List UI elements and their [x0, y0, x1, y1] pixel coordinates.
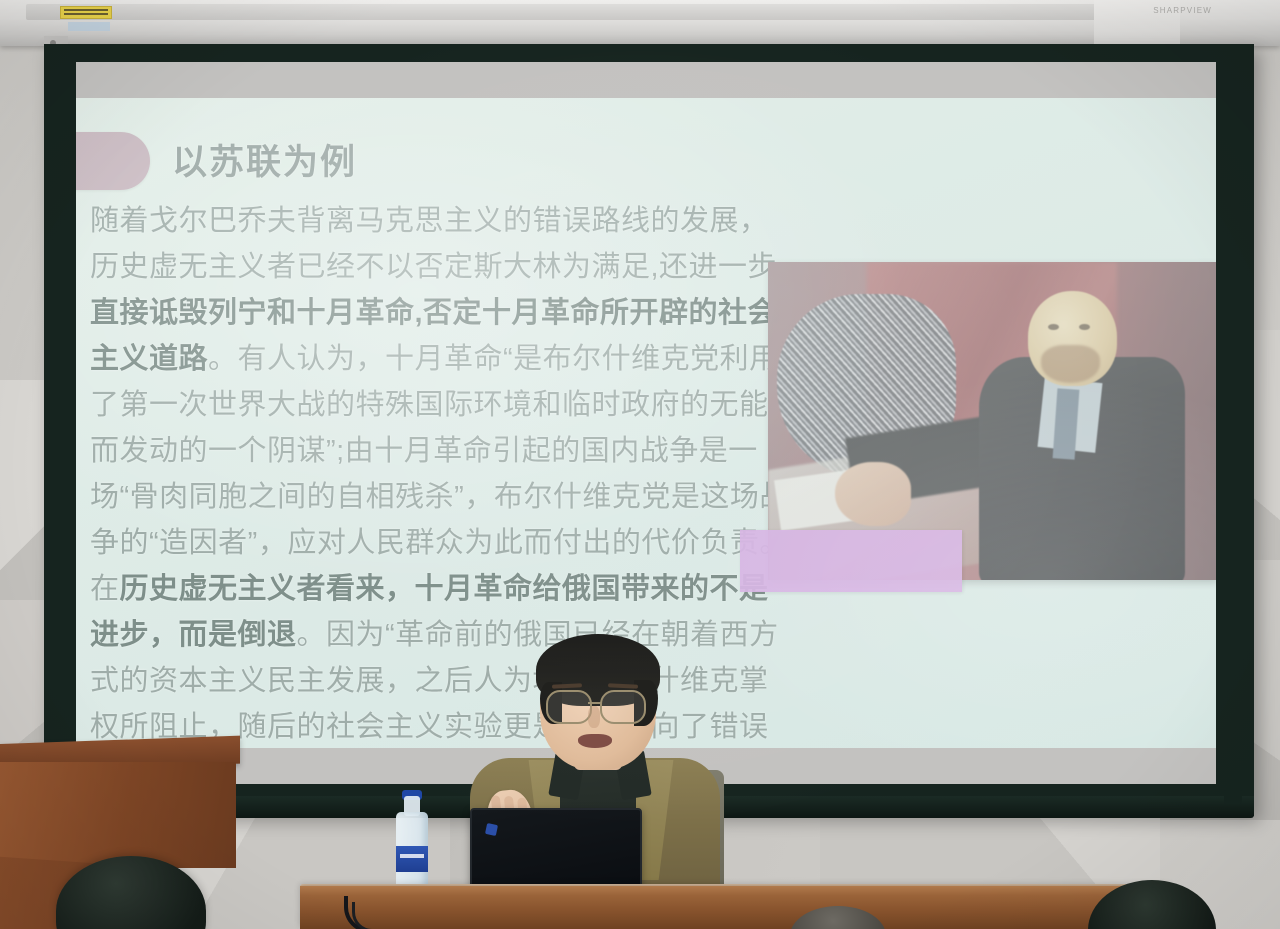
- housing-brand-label: SHARPVIEW: [1153, 6, 1212, 15]
- slide-body-text: 随着戈尔巴乔夫背离马克思主义的错误路线的发展，历史虚无主义者已经不以否定斯大林为…: [90, 198, 790, 748]
- projector-screen-housing: SHARPVIEW: [0, 0, 1280, 46]
- laptop-logo-icon: [485, 823, 498, 836]
- text-run: 。有人认为，十月革命“是布尔什维克党利用了第一次世界大战的特殊国际环境和临时政府…: [90, 343, 789, 559]
- bottle-label: [396, 846, 428, 872]
- glasses-lens-left-icon: [546, 690, 592, 724]
- title-pill-shape: [76, 132, 150, 190]
- lectern-body: [0, 762, 236, 868]
- model-sticker-icon: [68, 22, 110, 31]
- empty-highlight-box: [740, 530, 962, 592]
- glasses-lens-right-icon: [600, 690, 646, 724]
- speaker-mouth: [578, 734, 612, 748]
- slide-title: 以苏联为例: [172, 134, 357, 185]
- lecture-photo: SHARPVIEW 以苏联为例 随着戈尔巴乔夫背离马克思主义的错误路线的发展，历…: [0, 0, 1280, 929]
- housing-rail: [26, 4, 1146, 20]
- slide-paragraph-2: 在历史虚无主义者看来，十月革命给俄国带来的不是进步，而是倒退。因为“革命前的俄国…: [90, 566, 790, 748]
- slide-title-row: 以苏联为例: [76, 132, 1216, 190]
- presenter-laptop[interactable]: [470, 808, 642, 894]
- warning-sticker-icon: [60, 6, 112, 19]
- speaker-nose: [588, 706, 600, 728]
- presentation-desk: [300, 886, 1170, 929]
- desk-cable-secondary: [352, 902, 395, 929]
- glasses-bridge-icon: [588, 702, 602, 704]
- slide-paragraph-1: 随着戈尔巴乔夫背离马克思主义的错误路线的发展，历史虚无主义者已经不以否定斯大林为…: [90, 198, 790, 566]
- text-run: 在: [90, 573, 120, 605]
- text-run: 随着戈尔巴乔夫背离马克思主义的错误路线的发展，历史虚无主义者已经不以否定斯大林为…: [90, 205, 777, 283]
